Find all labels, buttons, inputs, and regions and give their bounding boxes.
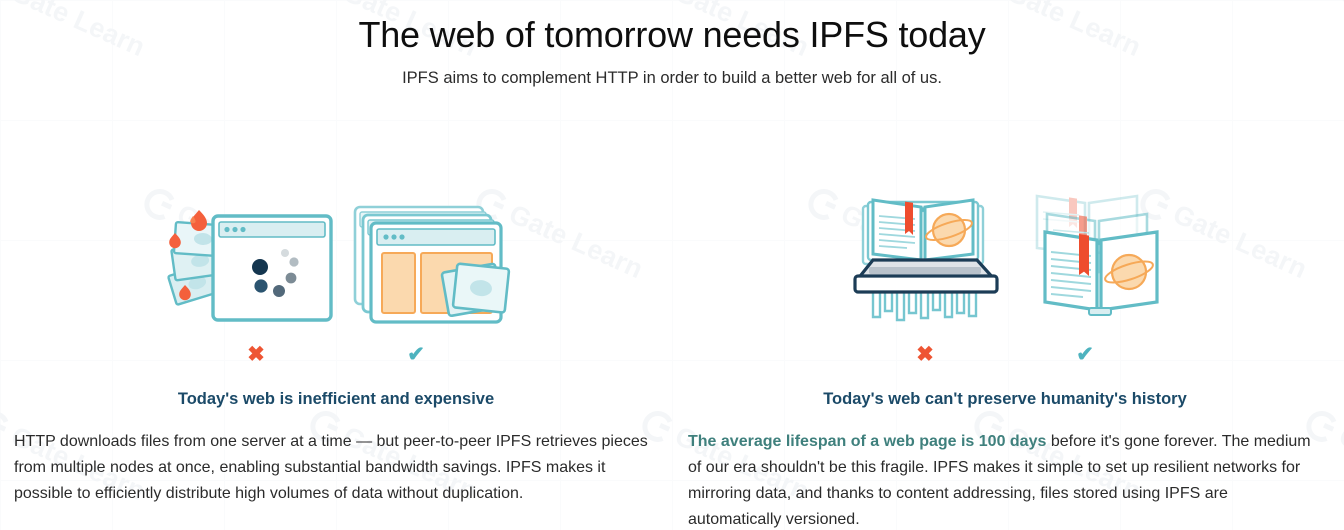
illustration-stacked-preserved-open-books bbox=[1025, 188, 1173, 328]
page-subtitle: IPFS aims to complement HTTP in order to… bbox=[0, 56, 1344, 88]
feature-columns: ✖ ✔ Today's web is inefficient and expen… bbox=[0, 178, 1344, 530]
column-heading-preservation: Today's web can't preserve humanity's hi… bbox=[688, 390, 1322, 409]
bookmark-icon bbox=[905, 202, 913, 235]
efficiency-illustrations bbox=[14, 178, 658, 328]
cross-icon-preservation: ✖ bbox=[852, 344, 998, 365]
window-dots bbox=[383, 234, 404, 239]
preservation-marks-row: ✖ ✔ bbox=[688, 344, 1322, 365]
page-title: The web of tomorrow needs IPFS today bbox=[0, 0, 1344, 56]
ipfs-value-proposition-page: Gate LearnGate LearnGate LearnGate Learn… bbox=[0, 0, 1344, 530]
web-page-lifespan-link[interactable]: The average lifespan of a web page is 10… bbox=[688, 433, 1046, 450]
column-efficiency: ✖ ✔ Today's web is inefficient and expen… bbox=[0, 178, 672, 530]
check-icon-preservation: ✔ bbox=[1012, 344, 1158, 365]
book-copy-front bbox=[1045, 232, 1157, 315]
illustration-browser-window-loading-with-burning-money bbox=[163, 198, 335, 328]
column-preservation: ✖ ✔ Today's web can't preserve humanity'… bbox=[672, 178, 1344, 530]
page-header: The web of tomorrow needs IPFS today IPF… bbox=[0, 0, 1344, 88]
money-group bbox=[442, 263, 510, 316]
preservation-illustrations bbox=[688, 178, 1322, 328]
browser-window-frame bbox=[213, 216, 331, 320]
bookmark-icon bbox=[1079, 234, 1089, 276]
column-body-efficiency: HTTP downloads files from one server at … bbox=[14, 429, 658, 507]
illustration-stacked-browser-windows-loaded-with-money bbox=[349, 198, 509, 328]
column-heading-efficiency: Today's web is inefficient and expensive bbox=[14, 390, 658, 409]
shredder-machine bbox=[855, 260, 997, 292]
illustration-open-book-being-shredded bbox=[837, 188, 1011, 328]
column-body-preservation: The average lifespan of a web page is 10… bbox=[688, 429, 1322, 530]
stacked-windows-group bbox=[355, 207, 509, 322]
window-dots bbox=[224, 227, 245, 232]
efficiency-marks-row: ✖ ✔ bbox=[14, 344, 658, 365]
cross-icon-efficiency: ✖ bbox=[183, 344, 329, 365]
check-icon-efficiency: ✔ bbox=[343, 344, 489, 365]
